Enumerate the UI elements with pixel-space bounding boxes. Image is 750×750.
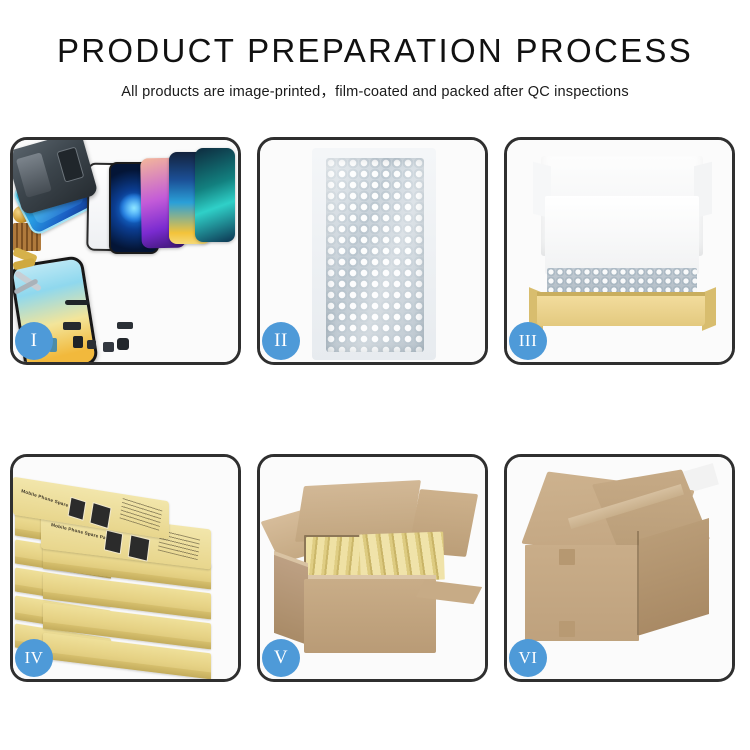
process-step-3: III [504, 137, 735, 365]
connector-part-2 [73, 336, 83, 348]
white-foam-sheet [545, 196, 699, 274]
page-subtitle: All products are image-printed，film-coat… [0, 80, 750, 101]
step-number-badge-3: III [509, 322, 547, 360]
process-step-5: V [257, 454, 488, 682]
process-step-4: Mobile Phone Spare Parts Mobile Phone Sp… [10, 454, 241, 682]
header: PRODUCT PREPARATION PROCESS All products… [0, 0, 750, 101]
box-screen-chip-1a [68, 497, 87, 521]
sealed-carton-right-face [637, 518, 709, 636]
process-grid: I II II [10, 137, 740, 682]
button-part [117, 338, 129, 350]
box-screen-chip-2b [128, 534, 151, 561]
bubble-wrap-sleeve [312, 148, 436, 360]
connector-part-1 [63, 322, 81, 330]
process-step-1: I [10, 137, 241, 365]
step-number-badge-1: I [15, 322, 53, 360]
step-number-badge-4: IV [15, 639, 53, 677]
kraft-box-front [537, 296, 705, 326]
step-number-badge-2: II [262, 322, 300, 360]
process-step-6: VI [504, 454, 735, 682]
bubble-wrap-sheen [326, 158, 424, 352]
camera-module-part [103, 342, 114, 352]
process-step-2: II [257, 137, 488, 365]
step-number-badge-5: V [262, 639, 300, 677]
page-title: PRODUCT PREPARATION PROCESS [0, 34, 750, 67]
carton-side-left [274, 555, 308, 645]
carton-tab-lower [559, 621, 575, 637]
carton-tab-upper [559, 549, 575, 565]
box-screen-chip-1b [89, 502, 111, 529]
box-spec-lines-1 [120, 497, 163, 531]
sealed-carton-front-face [525, 545, 639, 641]
teal-wave-phone [195, 148, 235, 242]
step-number-badge-6: VI [509, 639, 547, 677]
carton-front-face [304, 579, 436, 653]
connector-part-3 [87, 340, 96, 349]
box-screen-chip-2a [104, 530, 123, 555]
carton-corner-seam [637, 531, 639, 635]
antenna-part [117, 322, 133, 329]
speaker-mesh-part [65, 300, 89, 305]
infographic-page: PRODUCT PREPARATION PROCESS All products… [0, 0, 750, 750]
